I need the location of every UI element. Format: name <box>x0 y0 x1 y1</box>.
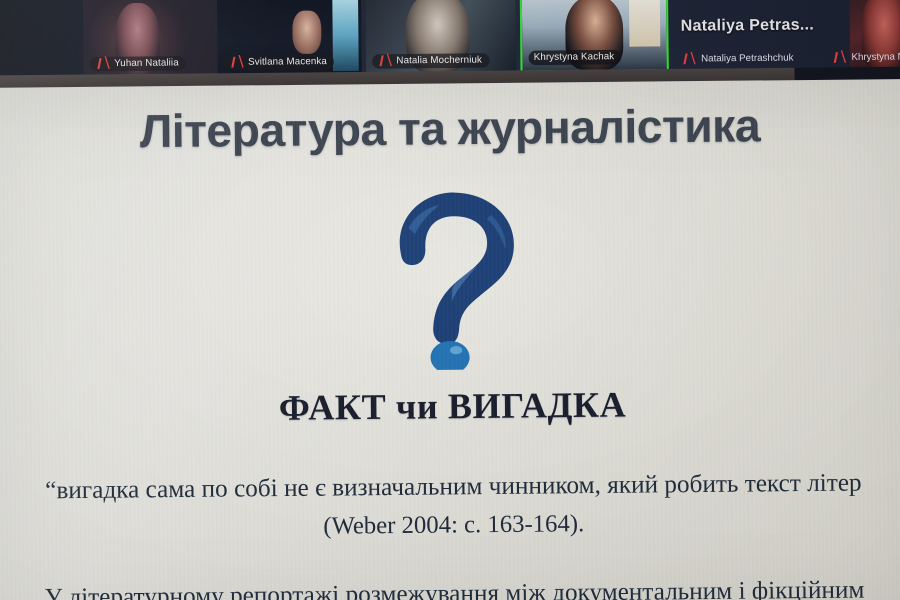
slide-quote: “вигадка сама по собі не є визначальним … <box>0 468 900 506</box>
participant-row-label[interactable]: ❙╲ Khrystyna Naza <box>831 51 900 63</box>
participant-name: Khrystyna Kachak <box>534 51 615 63</box>
microphone-muted-icon: ❙╲ <box>228 57 245 67</box>
microphone-muted-icon: ❙╲ <box>830 52 847 62</box>
participant-tile[interactable]: ❙╲ Natalia Mocherniuk <box>365 0 516 74</box>
participant-name: Natalia Mocherniuk <box>396 54 482 66</box>
participant-name: Khrystyna Naza <box>851 51 900 63</box>
slide-subtitle: ФАКТ чи ВИГАДКА <box>0 382 900 432</box>
participant-tile-active-speaker[interactable]: Khrystyna Kachak <box>520 0 669 72</box>
presentation-slide: Література та журналістика ФАКТ чи ВИГАД… <box>0 79 900 600</box>
slide-body-line: У літературному репортажі розмежування м… <box>0 575 900 600</box>
microphone-muted-icon: ❙╲ <box>376 56 393 66</box>
participant-name: Nataliya Petrashchuk <box>701 52 794 64</box>
speaker-name-label: Nataliya Petras... <box>681 16 815 36</box>
question-mark-icon <box>363 179 540 375</box>
microphone-muted-icon: ❙╲ <box>94 58 111 68</box>
participant-tile[interactable]: ❙╲ Svitlana Macenka <box>217 0 362 75</box>
participant-row-label[interactable]: ❙╲ Nataliya Petrashchuk <box>681 52 794 64</box>
screenshot-root: ❙╲ Yuhan Nataliia ❙╲ Svitlana Macenka ❙╲… <box>0 0 900 600</box>
participant-name-badge: Khrystyna Kachak <box>529 50 622 65</box>
slide-title: Література та журналістика <box>0 97 900 160</box>
participant-name-badge: ❙╲ Yuhan Nataliia <box>90 56 186 71</box>
participant-name-badge: ❙╲ Natalia Mocherniuk <box>372 53 489 69</box>
participant-name: Yuhan Nataliia <box>114 57 179 69</box>
screen-bezel-right <box>794 67 900 81</box>
participant-name: Svitlana Macenka <box>248 56 327 68</box>
projected-screen: ❙╲ Yuhan Nataliia ❙╲ Svitlana Macenka ❙╲… <box>0 0 900 600</box>
participant-tile[interactable]: ❙╲ Yuhan Nataliia <box>83 0 216 77</box>
microphone-muted-icon: ❙╲ <box>680 54 697 64</box>
slide-citation: (Weber 2004: с. 163-164). <box>0 507 900 544</box>
participant-name-badge: ❙╲ Svitlana Macenka <box>224 55 335 70</box>
